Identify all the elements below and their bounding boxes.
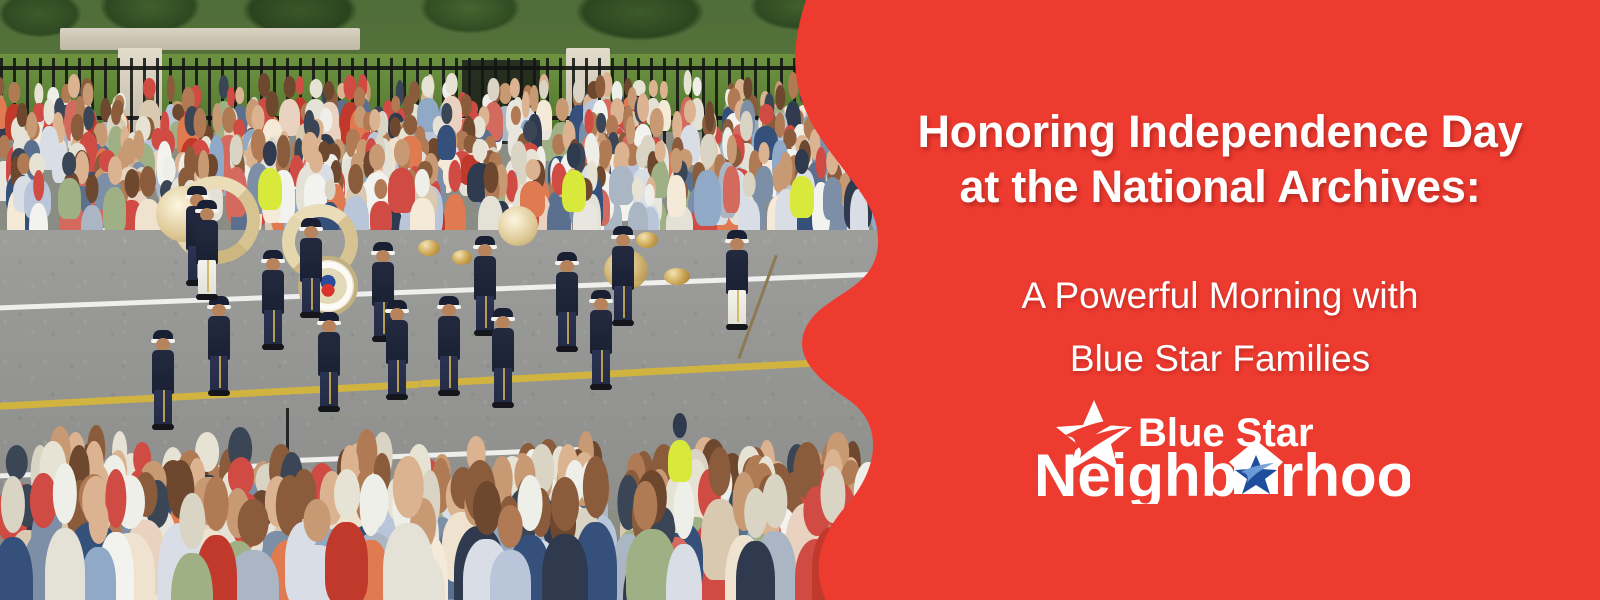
subhead-line-2: Blue Star Families [840, 327, 1600, 390]
photo-spectator-hat [227, 87, 235, 107]
photo-spectator-hat [53, 463, 77, 524]
photo-spectator-head [204, 476, 229, 531]
photo-spectator-head [185, 146, 197, 178]
photo-spectator [58, 178, 81, 219]
photo-spectator-head [637, 93, 649, 122]
photo-trumpet [418, 240, 440, 256]
photo-spectator-hat [449, 160, 462, 193]
photo-band-member [556, 252, 578, 348]
photo-spectator-head [525, 159, 540, 180]
photo-spectator-hat [360, 479, 383, 536]
photo-crowd-upper: [] [0, 96, 900, 246]
photo-safety-vest-officer [668, 440, 692, 482]
photo-sousaphone-bell [498, 206, 538, 246]
photo-spectator-head [111, 103, 121, 124]
photo-spectator-hat [230, 135, 243, 165]
photo-spectator-head [283, 76, 296, 98]
photo-spectator-hat [62, 152, 76, 176]
photo-spectator-head [348, 164, 364, 194]
photo-spectator-hat [523, 120, 537, 142]
photo-spectator [755, 166, 773, 203]
photo-spectator-hat [743, 172, 756, 197]
photo-band-member [262, 250, 284, 346]
photo-spectator-head [124, 169, 139, 198]
photo-band-member [492, 308, 514, 404]
photo-spectator-hat [33, 170, 45, 202]
subhead-line-1: A Powerful Morning with [840, 264, 1600, 327]
photo-spectator-head [88, 499, 109, 544]
photo-spectator-head [324, 81, 335, 101]
photo-spectator-hat [816, 147, 827, 179]
photo-spectator-head [483, 162, 498, 194]
photo-spectator-head [277, 135, 291, 167]
photo-spectator-hat [6, 445, 29, 480]
photo-spectator-head [108, 156, 122, 184]
photo-crowd-foreground [0, 470, 900, 600]
photo-spectator [81, 547, 116, 600]
photo-spectator-head [670, 148, 682, 173]
photo-spectator-hat [445, 73, 458, 95]
photo-spectator-hat [324, 179, 335, 200]
photo-spectator [694, 170, 721, 226]
photo-band-member [208, 296, 230, 392]
photo-spectator-hat [644, 184, 655, 205]
photo-spectator [490, 550, 531, 600]
photo-band-member [152, 330, 174, 426]
photo-spectator-head [596, 75, 606, 98]
logo-bottom-text-after: rhood [1280, 442, 1410, 504]
photo-spectator-head [789, 72, 799, 99]
photo-band-member [438, 296, 460, 392]
photo-spectator-head [599, 140, 610, 169]
photo-spectator-head [758, 142, 769, 164]
photo-spectator-head [684, 100, 696, 124]
headline-line-1: Honoring Independence Day [840, 104, 1600, 159]
photo-spectator-head [309, 150, 323, 173]
photo-spectator [437, 125, 456, 160]
photo-spectator-head [660, 81, 668, 100]
photo-spectator [103, 187, 126, 234]
photo-spectator-head [235, 87, 245, 105]
photo-spectator-hat [759, 104, 774, 124]
photo-spectator-head [140, 166, 156, 197]
photo-spectator-head [775, 112, 785, 138]
photo-drum-major [196, 200, 218, 296]
photo-spectator-head [9, 82, 20, 103]
photo-spectator [723, 166, 740, 214]
photo-spectator-head [460, 94, 472, 116]
photo-spectator-hat [421, 76, 434, 97]
photo-trombone [664, 268, 690, 285]
page-title: Honoring Independence Day at the Nationa… [840, 104, 1600, 214]
photo-band-member [318, 312, 340, 408]
photo-spectator-head [510, 78, 520, 98]
photo-spectator-head [498, 505, 523, 547]
photo-band-member [590, 290, 612, 386]
headline-line-2: at the National Archives: [840, 159, 1600, 214]
photo-safety-vest-officer [790, 176, 814, 218]
photo-spectator-hat [34, 83, 43, 105]
blue-star-neighborhood-logo: Blue Star Neighborhood Blue Star Neighb [1030, 398, 1410, 504]
photo-spectator [667, 175, 686, 217]
photo-spectator-head [354, 87, 366, 108]
photo-spectator-head [167, 75, 175, 102]
page-subtitle: A Powerful Morning with Blue Star Famili… [840, 264, 1600, 390]
logo-bottom-text-before: Neighb [1034, 442, 1237, 504]
photo-spectator-hat [744, 488, 768, 538]
photo-drum-major [726, 230, 748, 326]
photo-band-member [386, 300, 408, 396]
photo-spectator-hat [804, 96, 815, 114]
parade-photo: Military marching band in dark navy unif… [0, 0, 900, 600]
photo-spectator-head [374, 179, 387, 200]
photo-safety-vest-officer [562, 170, 586, 212]
photo-spectator-hat [309, 79, 322, 98]
photo-spectator-hat [415, 169, 430, 196]
photo-spectator-head [551, 477, 579, 530]
photo-spectator-head [85, 174, 98, 203]
photo-spectator-head [827, 149, 839, 175]
photo-trumpet [452, 250, 472, 265]
photo-spectator-hat [693, 77, 702, 96]
photo-spectator-head [655, 141, 666, 162]
promo-banner: Military marching band in dark navy unif… [0, 0, 1600, 600]
photo-spectator-head [649, 108, 664, 136]
photo-spectator-head [122, 138, 137, 165]
photo-stone-wall [60, 28, 360, 50]
photo-spectator-head [530, 85, 539, 112]
photo-spectator-hat [44, 99, 55, 125]
photo-spectator-head [391, 96, 401, 112]
photo-spectator [626, 533, 665, 600]
photo-spectator-head [304, 499, 331, 542]
photo-band-member [612, 226, 634, 322]
photo-spectator-hat [596, 113, 606, 133]
photo-spectator [542, 534, 589, 600]
photo-spectator-hat [683, 70, 692, 95]
photo-spectator-hat [636, 144, 648, 167]
banner-content: Honoring Independence Day at the Nationa… [840, 0, 1600, 600]
photo-spectator-head [238, 499, 269, 546]
photo-spectator-hat [334, 469, 360, 519]
photo-spectator-head [252, 105, 265, 132]
photo-spectator-hat [539, 80, 549, 98]
photo-spectator-head [708, 447, 731, 496]
photo-safety-vest-officer [258, 168, 282, 210]
photo-spectator-head [726, 135, 736, 164]
photo-spectator-head [626, 116, 636, 144]
photo-spectator-head [194, 108, 207, 138]
photo-spectator-head [556, 98, 569, 121]
photo-spectator [609, 166, 634, 205]
photo-spectator-hat [179, 493, 204, 550]
photo-spectator-head [404, 115, 417, 135]
photo-trumpet [636, 232, 658, 248]
photo-spectator-hat [143, 78, 156, 99]
photo-band-member [300, 218, 322, 314]
photo-spectator [383, 523, 434, 600]
photo-spectator [325, 522, 368, 600]
photo-spectator-head [369, 144, 385, 170]
photo-spectator-head [266, 91, 279, 117]
